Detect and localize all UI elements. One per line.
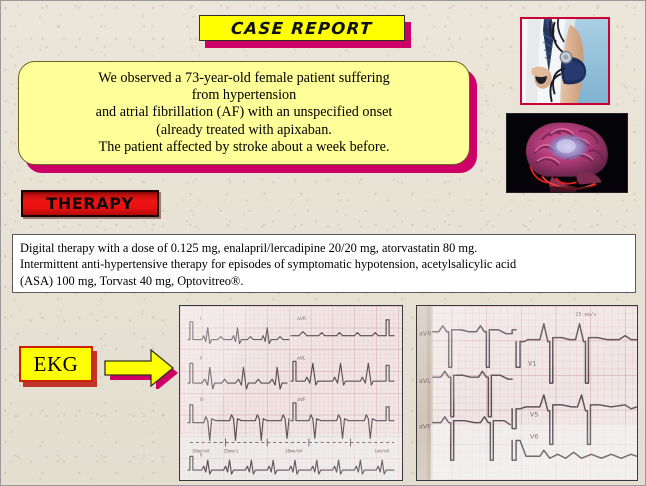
case-line-2: from hypertension	[192, 87, 296, 104]
therapy-line-2: Intermittent anti-hypertensive therapy f…	[20, 256, 628, 272]
right-arrow-icon	[99, 341, 179, 389]
therapy-line-3: (ASA) 100 mg, Torvast 40 mg, Optovitreo®…	[20, 273, 628, 289]
page-title: CASE REPORT	[231, 19, 374, 38]
ekg-label-text: EKG	[34, 352, 79, 377]
case-line-5: The patient affected by stroke about a w…	[99, 139, 390, 156]
therapy-heading: THERAPY	[21, 190, 163, 220]
ekg-label-box: EKG	[19, 346, 93, 382]
therapy-line-1: Digital therapy with a dose of 0.125 mg,…	[20, 240, 628, 256]
ecg-strip-12-lead: 10mm/mV 25mm/s 10mm/mV 1mm/mV I aVR II a…	[179, 305, 403, 481]
brain-stroke-illustration	[506, 113, 628, 193]
case-line-1: We observed a 73-year-old female patient…	[98, 70, 389, 87]
case-box-body: We observed a 73-year-old female patient…	[18, 61, 470, 165]
case-line-3: and atrial fibrillation (AF) with an uns…	[96, 104, 393, 121]
ecg-strip-precordial: V1 V5 V6 aVR aVL aVF 25 mm/s	[416, 305, 638, 481]
case-report-title: CASE REPORT	[199, 15, 411, 48]
case-line-4: (already treated with apixaban.	[156, 122, 332, 139]
blood-pressure-measurement-photo	[520, 17, 610, 105]
therapy-label: THERAPY	[46, 194, 133, 213]
therapy-details-panel: Digital therapy with a dose of 0.125 mg,…	[12, 234, 636, 293]
therapy-button: THERAPY	[21, 190, 159, 217]
title-box: CASE REPORT	[199, 15, 405, 41]
slide-canvas: CASE REPORT	[0, 0, 646, 486]
ekg-label: EKG	[19, 346, 99, 388]
case-description-box: We observed a 73-year-old female patient…	[18, 61, 477, 173]
